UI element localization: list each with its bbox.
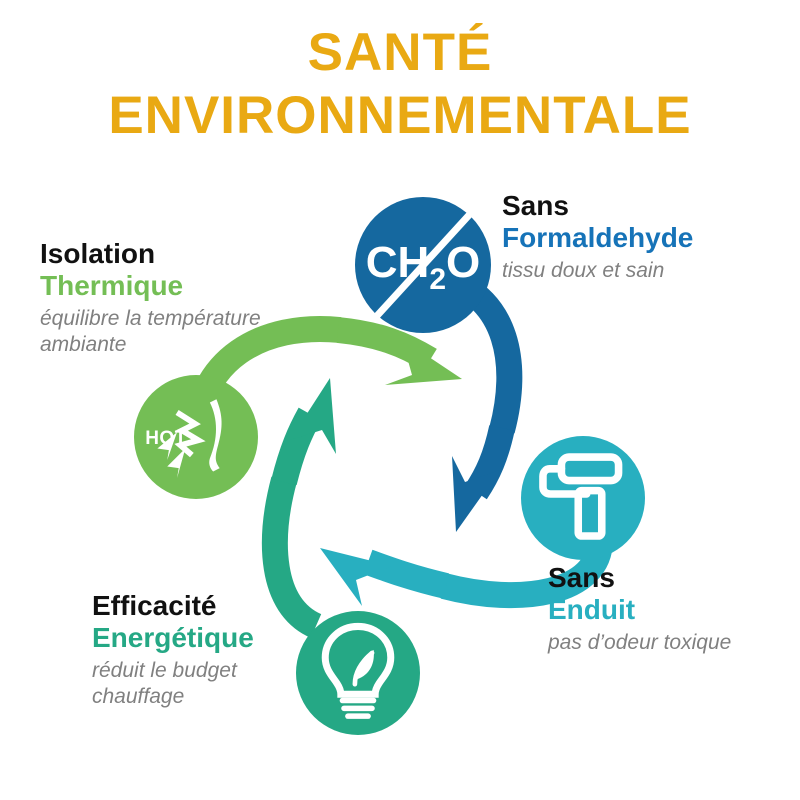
formaldehyde-description: tissu doux et sain [502, 258, 693, 284]
isolation-desc-line-2: ambiante [40, 332, 261, 358]
label-efficacite: Efficacité Energétique réduit le budget … [92, 590, 254, 710]
efficacite-subtitle: Energétique [92, 622, 254, 654]
isolation-icon-label: HOT [145, 428, 187, 449]
label-formaldehyde: Sans Formaldehyde tissu doux et sain [502, 190, 693, 284]
efficacite-desc-line-2: chauffage [92, 684, 254, 710]
node-formaldehyde[interactable]: CH2O [355, 197, 491, 333]
efficacite-description: réduit le budget chauffage [92, 658, 254, 711]
efficacite-desc-line-1: réduit le budget [92, 658, 254, 684]
enduit-desc-line-1: pas d’odeur toxique [548, 630, 731, 656]
node-enduit[interactable] [521, 436, 645, 560]
formaldehyde-subtitle: Formaldehyde [502, 222, 693, 254]
isolation-description: équilibre la température ambiante [40, 306, 261, 359]
label-enduit: Sans Enduit pas d’odeur toxique [548, 562, 731, 656]
efficacite-title: Efficacité [92, 590, 254, 622]
label-isolation: Isolation Thermique équilibre la tempéra… [40, 238, 261, 358]
enduit-subtitle: Enduit [548, 594, 731, 626]
isolation-title: Isolation [40, 238, 261, 270]
node-isolation[interactable]: HOT [134, 375, 258, 499]
isolation-desc-line-1: équilibre la température [40, 306, 261, 332]
formaldehyde-title: Sans [502, 190, 693, 222]
node-efficacite[interactable] [296, 611, 420, 735]
arrow-efficacite-to-isolation [275, 378, 336, 626]
infographic-canvas: SANTÉ ENVIRONNEMENTALE [0, 0, 800, 800]
enduit-description: pas d’odeur toxique [548, 630, 731, 656]
enduit-title: Sans [548, 562, 731, 594]
isolation-subtitle: Thermique [40, 270, 261, 302]
formaldehyde-desc-line-1: tissu doux et sain [502, 258, 693, 284]
